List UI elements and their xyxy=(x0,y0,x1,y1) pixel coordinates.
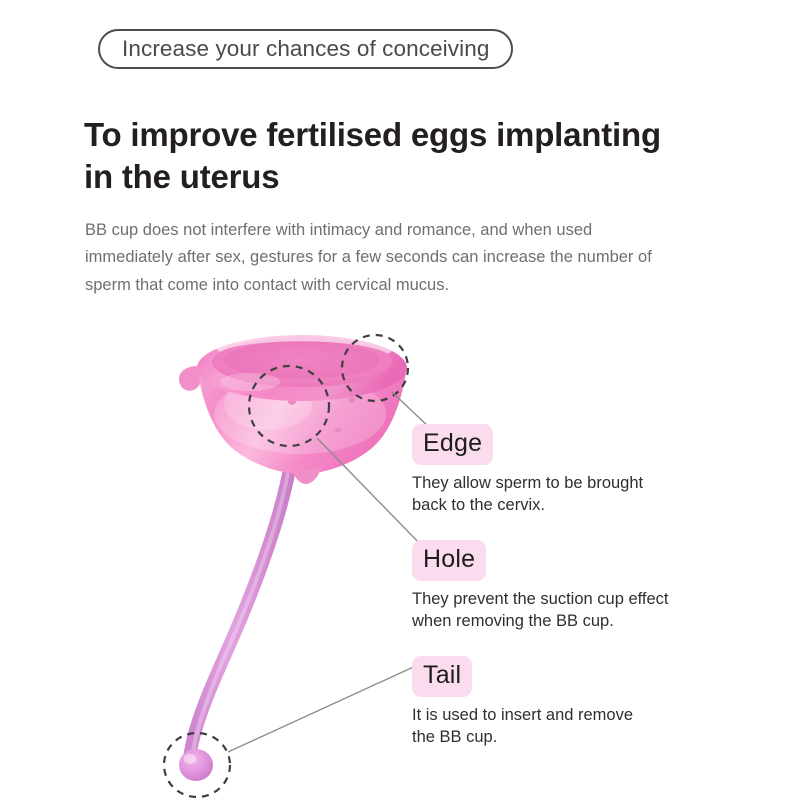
edge-marker-icon xyxy=(342,335,408,401)
cup-tail xyxy=(179,455,292,781)
callout-tail-line-2: the BB cup. xyxy=(412,726,712,748)
tail-marker-icon xyxy=(164,733,230,797)
callout-hole-description: They prevent the suction cup effect when… xyxy=(412,588,712,632)
callout-hole: Hole They prevent the suction cup effect… xyxy=(412,540,712,632)
callout-hole-line-2: when removing the BB cup. xyxy=(412,610,712,632)
callout-hole-line-1: They prevent the suction cup effect xyxy=(412,588,712,610)
cup-rim-inner xyxy=(212,337,392,387)
cup-hole-lower xyxy=(335,428,342,432)
cup-hole-left xyxy=(288,399,296,404)
hole-marker-icon xyxy=(249,366,329,446)
callout-tail-tag: Tail xyxy=(412,656,472,697)
callout-tail: Tail It is used to insert and remove the… xyxy=(412,656,712,748)
body-paragraph-line-3: sperm that come into contact with cervic… xyxy=(85,272,725,300)
leader-line-hole xyxy=(317,438,424,548)
callout-tail-description: It is used to insert and remove the BB c… xyxy=(412,704,712,748)
infographic-page: Increase your chances of conceiving To i… xyxy=(0,0,800,800)
cup-body xyxy=(179,335,407,484)
callout-edge: Edge They allow sperm to be brought back… xyxy=(412,424,712,516)
body-paragraph-line-1: BB cup does not interfere with intimacy … xyxy=(85,217,725,245)
callout-edge-line-1: They allow sperm to be brought xyxy=(412,472,712,494)
tail-bulb xyxy=(179,749,213,781)
cup-hole-right xyxy=(348,398,355,403)
callout-edge-line-2: back to the cervix. xyxy=(412,494,712,516)
callout-tail-line-1: It is used to insert and remove xyxy=(412,704,712,726)
page-title-line-2: in the uterus xyxy=(84,156,744,198)
callout-hole-tag: Hole xyxy=(412,540,486,581)
callout-edge-tag: Edge xyxy=(412,424,493,465)
body-paragraph: BB cup does not interfere with intimacy … xyxy=(85,217,725,300)
page-title: To improve fertilised eggs implanting in… xyxy=(84,114,744,198)
leader-line-tail xyxy=(228,664,420,752)
page-title-line-1: To improve fertilised eggs implanting xyxy=(84,116,661,153)
eyebrow-badge-label: Increase your chances of conceiving xyxy=(122,38,489,61)
callout-edge-description: They allow sperm to be brought back to t… xyxy=(412,472,712,516)
body-paragraph-line-2: immediately after sex, gestures for a fe… xyxy=(85,244,725,272)
eyebrow-badge: Increase your chances of conceiving xyxy=(98,29,513,69)
cup-rim-outer xyxy=(197,335,407,401)
